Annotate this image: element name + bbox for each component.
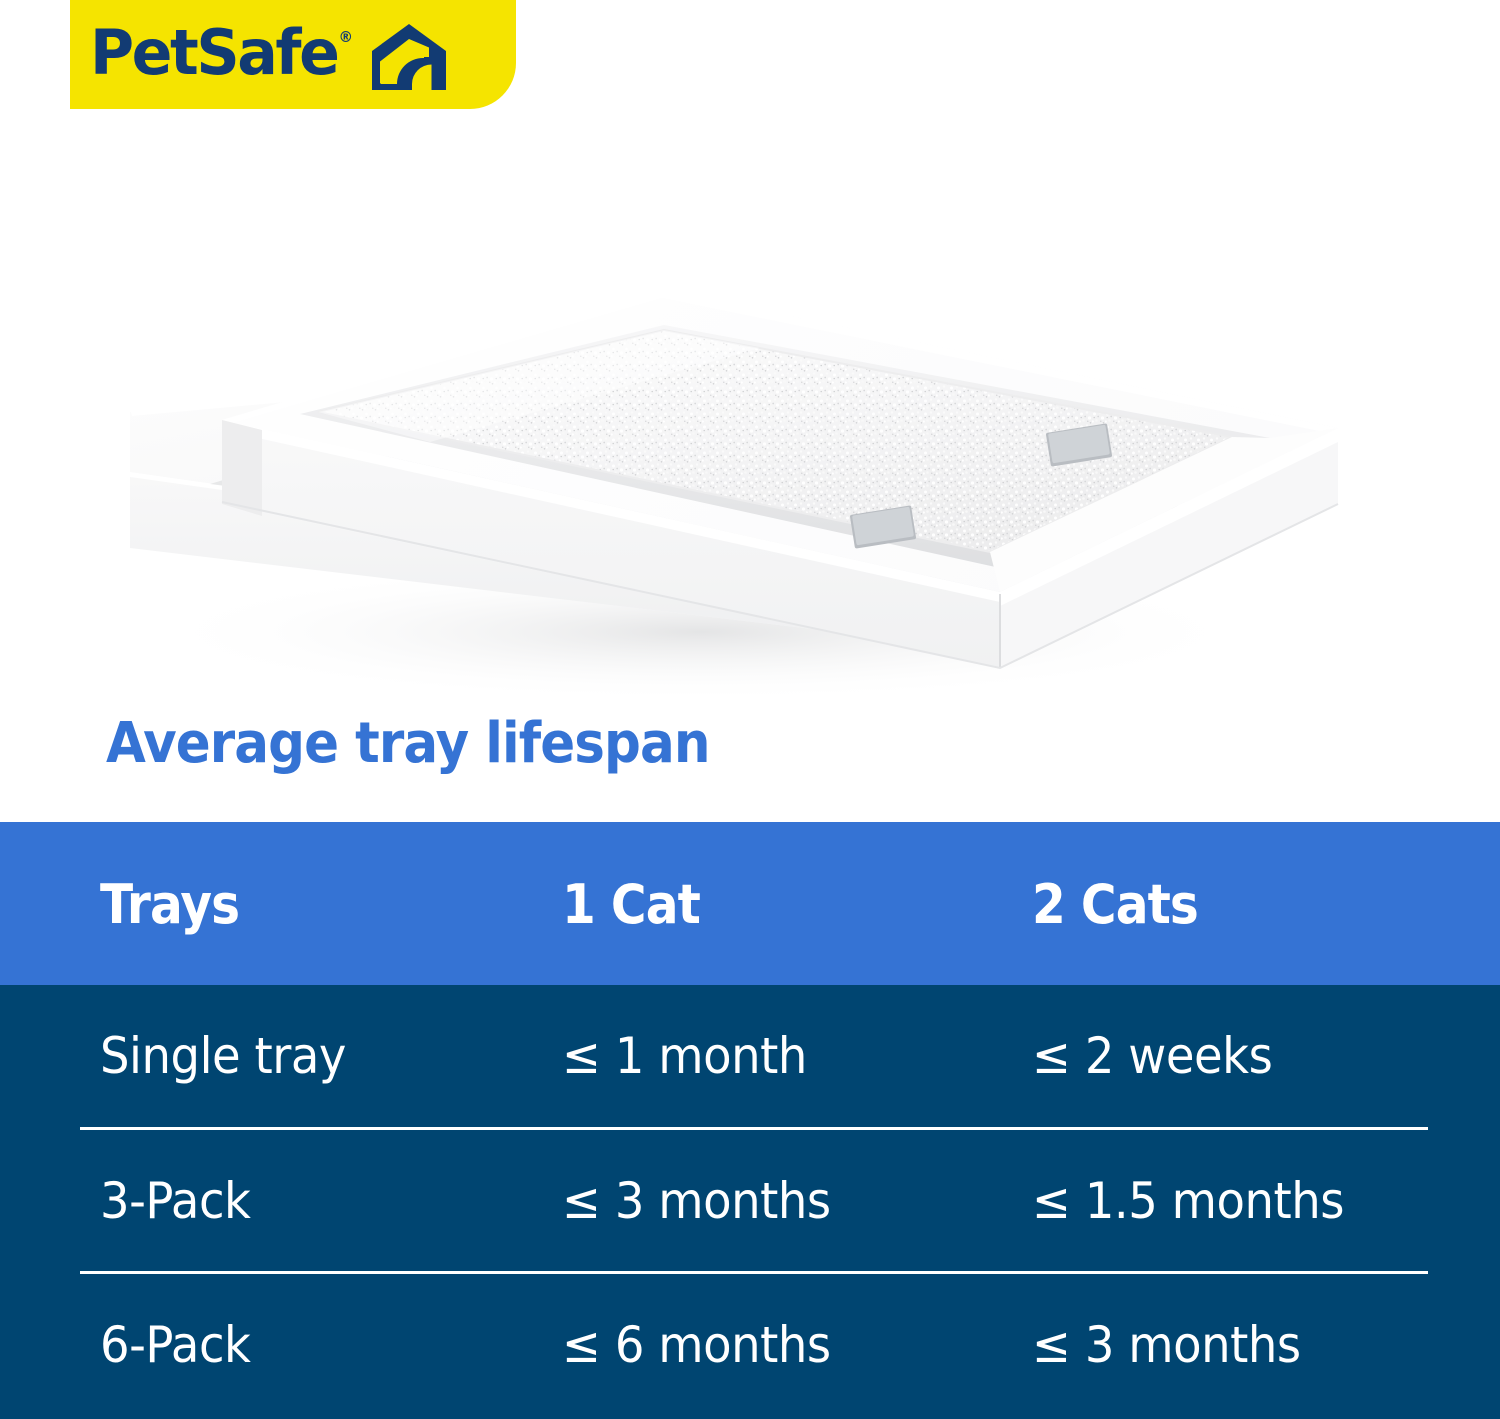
column-header-two-cats: 2 Cats: [1032, 878, 1198, 932]
petsafe-logo-badge: PetSafe®: [70, 0, 516, 109]
column-header-trays: Trays: [100, 878, 239, 932]
petsafe-wordmark: PetSafe®: [90, 22, 352, 84]
cell-two-cats: ≤ 3 months: [1032, 1320, 1301, 1370]
column-header-one-cat: 1 Cat: [562, 878, 700, 932]
product-photo: [0, 112, 1500, 710]
average-tray-lifespan-table: Trays 1 Cat 2 Cats Single tray ≤ 1 month…: [0, 822, 1500, 1419]
cell-two-cats: ≤ 1.5 months: [1032, 1176, 1344, 1226]
litter-tray-illustration: [0, 112, 1500, 710]
cell-one-cat: ≤ 3 months: [562, 1176, 831, 1226]
brand-name: PetSafe: [90, 16, 338, 89]
cell-trays: 6-Pack: [100, 1320, 251, 1370]
house-with-pet-door-icon: [372, 24, 446, 90]
registered-trademark-icon: ®: [338, 28, 353, 46]
table-body: Single tray ≤ 1 month ≤ 2 weeks 3-Pack ≤…: [0, 985, 1500, 1419]
section-title: Average tray lifespan: [106, 715, 710, 774]
table-row: 3-Pack ≤ 3 months ≤ 1.5 months: [0, 1130, 1500, 1275]
cell-one-cat: ≤ 1 month: [562, 1031, 807, 1081]
cell-two-cats: ≤ 2 weeks: [1032, 1031, 1272, 1081]
cell-one-cat: ≤ 6 months: [562, 1320, 831, 1370]
cell-trays: Single tray: [100, 1031, 346, 1081]
table-header-row: Trays 1 Cat 2 Cats: [0, 822, 1500, 985]
table-row: 6-Pack ≤ 6 months ≤ 3 months: [0, 1274, 1500, 1419]
cell-trays: 3-Pack: [100, 1176, 251, 1226]
table-row: Single tray ≤ 1 month ≤ 2 weeks: [0, 985, 1500, 1130]
